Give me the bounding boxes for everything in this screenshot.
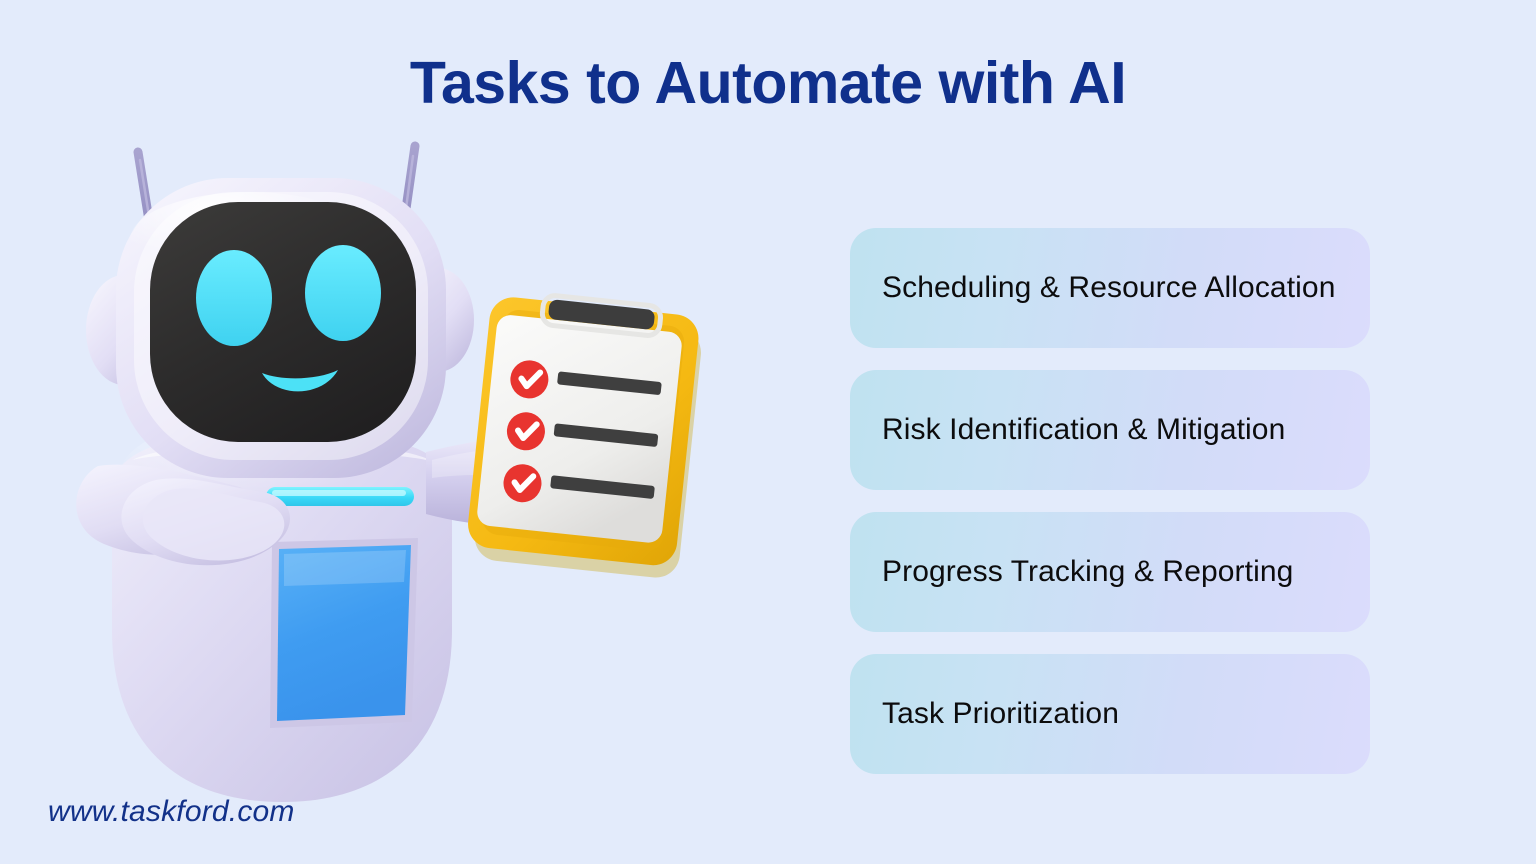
site-url[interactable]: www.taskford.com [48,795,295,829]
task-card-label: Progress Tracking & Reporting [882,553,1293,591]
robot-head [116,178,446,478]
task-card-0[interactable]: Scheduling & Resource Allocation [850,228,1370,348]
robot-status-bar [266,487,414,506]
robot-face-screen [150,202,416,442]
task-card-label: Task Prioritization [882,695,1119,733]
task-card-1[interactable]: Risk Identification & Mitigation [850,370,1370,490]
task-card-label: Risk Identification & Mitigation [882,411,1285,449]
task-card-label: Scheduling & Resource Allocation [882,269,1335,307]
task-list: Scheduling & Resource Allocation Risk Id… [850,228,1370,774]
robot-eye-left [196,250,272,346]
task-card-3[interactable]: Task Prioritization [850,654,1370,774]
robot-illustration [60,130,780,820]
task-card-2[interactable]: Progress Tracking & Reporting [850,512,1370,632]
robot-eye-right [305,245,381,341]
page-title: Tasks to Automate with AI [0,49,1536,117]
clipboard [464,289,705,580]
